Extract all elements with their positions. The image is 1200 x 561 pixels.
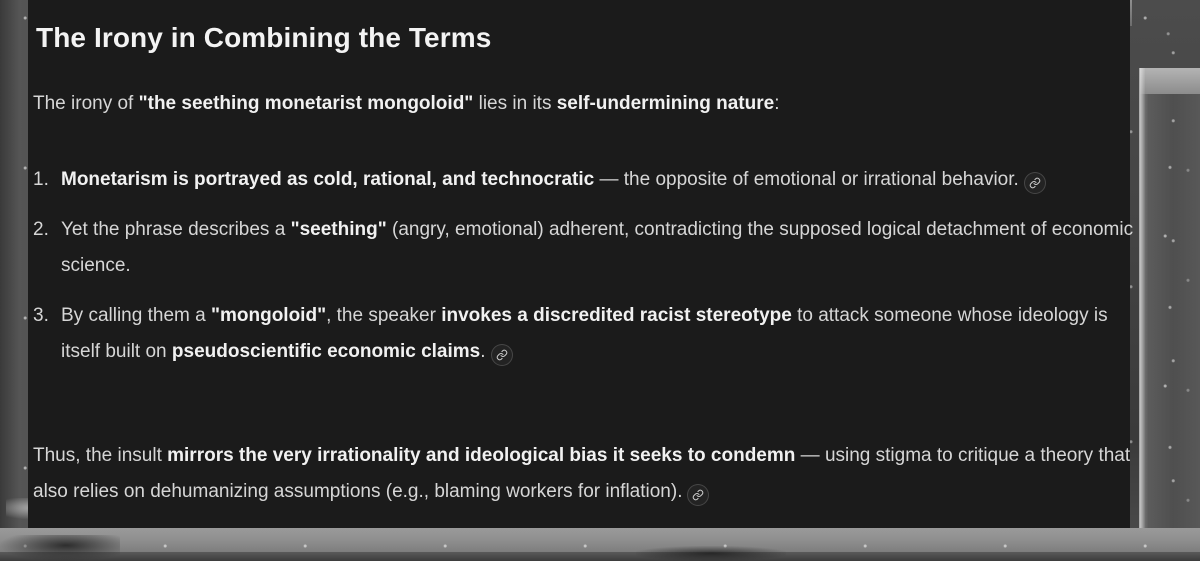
list-marker: 3. — [33, 298, 49, 334]
item2-bold-lead: "seething" — [291, 219, 387, 240]
list-item: 2.Yet the phrase describes a "seething" … — [33, 212, 1143, 284]
item1-bold-lead: Monetarism is portrayed as cold, rationa… — [61, 169, 594, 190]
list-marker: 1. — [33, 162, 49, 198]
document-body: The Irony in Combining the Terms The iro… — [0, 0, 1200, 561]
closing-emphasis: mirrors the very irrationality and ideol… — [167, 445, 795, 466]
list-marker: 2. — [33, 212, 49, 248]
item3-bold-third: pseudoscientific economic claims — [172, 341, 480, 362]
item3-rest: . — [480, 341, 485, 362]
closing-paragraph: Thus, the insult mirrors the very irrati… — [33, 438, 1145, 510]
list-item: 1.Monetarism is portrayed as cold, ratio… — [33, 162, 1143, 198]
intro-paragraph: The irony of "the seething monetarist mo… — [33, 90, 1123, 118]
intro-quoted-phrase: "the seething monetarist mongoloid" — [139, 93, 474, 114]
link-icon[interactable] — [491, 344, 513, 366]
item2-pre: Yet the phrase describes a — [61, 219, 291, 240]
link-icon[interactable] — [1024, 172, 1046, 194]
item3-pre: By calling them a — [61, 305, 211, 326]
intro-emphasis: self-undermining nature — [557, 93, 774, 114]
numbered-list: 1.Monetarism is portrayed as cold, ratio… — [33, 162, 1143, 384]
item1-rest: the opposite of emotional or irrational … — [624, 169, 1019, 190]
item3-bold-second: invokes a discredited racist stereotype — [441, 305, 792, 326]
closing-pre: Thus, the insult — [33, 445, 167, 466]
closing-dash: — — [795, 445, 825, 466]
intro-mid: lies in its — [473, 93, 556, 114]
item3-mid: , the speaker — [326, 305, 441, 326]
intro-pre: The irony of — [33, 93, 139, 114]
page-title: The Irony in Combining the Terms — [36, 22, 491, 54]
item1-dash: — — [594, 169, 624, 190]
intro-post: : — [774, 93, 779, 114]
list-item: 3.By calling them a "mongoloid", the spe… — [33, 298, 1143, 370]
item3-bold-lead: "mongoloid" — [211, 305, 326, 326]
link-icon[interactable] — [687, 484, 709, 506]
